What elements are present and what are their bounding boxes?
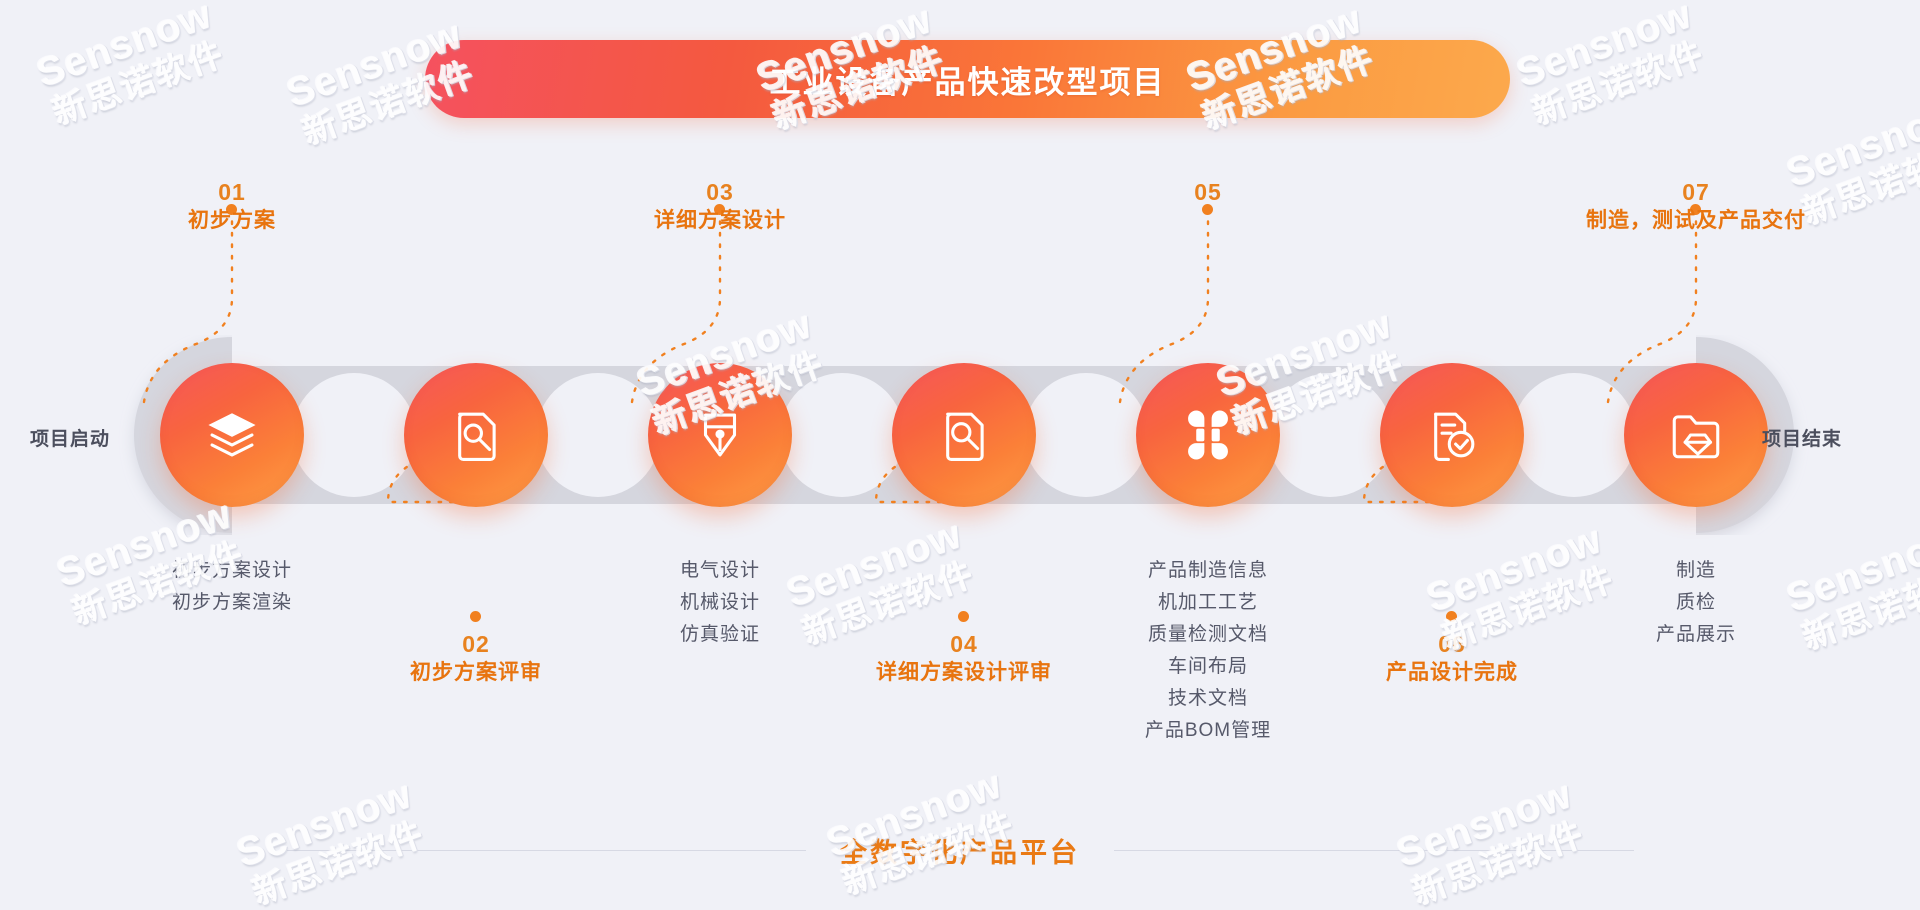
watermark: Sensnow新思诺软件 xyxy=(31,0,232,134)
end-label: 项目结束 xyxy=(1762,424,1842,451)
list-item: 机加工工艺 xyxy=(1058,587,1358,619)
search-magnifier-icon xyxy=(935,406,993,464)
watermark: Sensnow新思诺软件 xyxy=(1511,0,1712,134)
list-item: 技术文档 xyxy=(1058,683,1358,715)
step-label-01: 01 初步方案 xyxy=(82,178,382,235)
step-number-01: 01 xyxy=(82,178,382,207)
list-item: 电气设计 xyxy=(570,555,870,587)
list-item: 制造 xyxy=(1546,555,1846,587)
search-document-icon xyxy=(447,406,505,464)
layers-icon xyxy=(203,406,261,464)
detail-list-03: 电气设计 机械设计 仿真验证 xyxy=(570,555,870,651)
step-number-05: 05 xyxy=(1058,178,1358,207)
document-check-icon xyxy=(1423,406,1481,464)
process-node-01[interactable] xyxy=(160,363,304,507)
connector-dot-02 xyxy=(470,611,481,622)
list-item: 机械设计 xyxy=(570,587,870,619)
page-title: 工业设备产品快速改型项目 xyxy=(425,40,1510,118)
step-name-01: 初步方案 xyxy=(82,207,382,235)
process-node-06[interactable] xyxy=(1380,363,1524,507)
list-item: 产品BOM管理 xyxy=(1058,715,1358,747)
footer-label: 全数字化产品平台 xyxy=(806,831,1114,870)
step-name-03: 详细方案设计 xyxy=(570,207,870,235)
start-label: 项目启动 xyxy=(30,424,110,451)
connector-dot-04 xyxy=(958,611,969,622)
footer: 全数字化产品平台 xyxy=(0,820,1920,880)
process-node-04[interactable] xyxy=(892,363,1036,507)
step-label-07: 07 制造，测试及产品交付 xyxy=(1496,178,1896,235)
list-item: 仿真验证 xyxy=(570,619,870,651)
list-item: 产品制造信息 xyxy=(1058,555,1358,587)
step-number-07: 07 xyxy=(1496,178,1896,207)
step-label-03: 03 详细方案设计 xyxy=(570,178,870,235)
list-item: 产品展示 xyxy=(1546,619,1846,651)
step-number-03: 03 xyxy=(570,178,870,207)
detail-list-05: 产品制造信息 机加工工艺 质量检测文档 车间布局 技术文档 产品BOM管理 xyxy=(1058,555,1358,747)
connector-dot-06 xyxy=(1446,611,1457,622)
list-item: 初步方案渲染 xyxy=(82,587,382,619)
title-banner: 工业设备产品快速改型项目 xyxy=(425,40,1510,118)
infographic-canvas: 项目启动 项目结束 工业设备产品快速改型项目 01 初步方案 03 详细方案设计… xyxy=(0,0,1920,910)
process-node-05[interactable] xyxy=(1136,363,1280,507)
footer-divider-left xyxy=(286,850,806,851)
process-node-07[interactable] xyxy=(1624,363,1768,507)
list-item: 车间布局 xyxy=(1058,651,1358,683)
step-label-05: 05 xyxy=(1058,178,1358,207)
folder-diamond-icon xyxy=(1667,406,1725,464)
pen-nib-icon xyxy=(691,406,749,464)
step-name-07: 制造，测试及产品交付 xyxy=(1496,207,1896,235)
step-name-02: 初步方案评审 xyxy=(326,659,626,687)
footer-divider-right xyxy=(1114,850,1634,851)
detail-list-07: 制造 质检 产品展示 xyxy=(1546,555,1846,651)
grid-clover-icon xyxy=(1179,406,1237,464)
process-node-03[interactable] xyxy=(648,363,792,507)
list-item: 质检 xyxy=(1546,587,1846,619)
list-item: 质量检测文档 xyxy=(1058,619,1358,651)
process-node-02[interactable] xyxy=(404,363,548,507)
list-item: 初步方案设计 xyxy=(82,555,382,587)
detail-list-01: 初步方案设计 初步方案渲染 xyxy=(82,555,382,619)
